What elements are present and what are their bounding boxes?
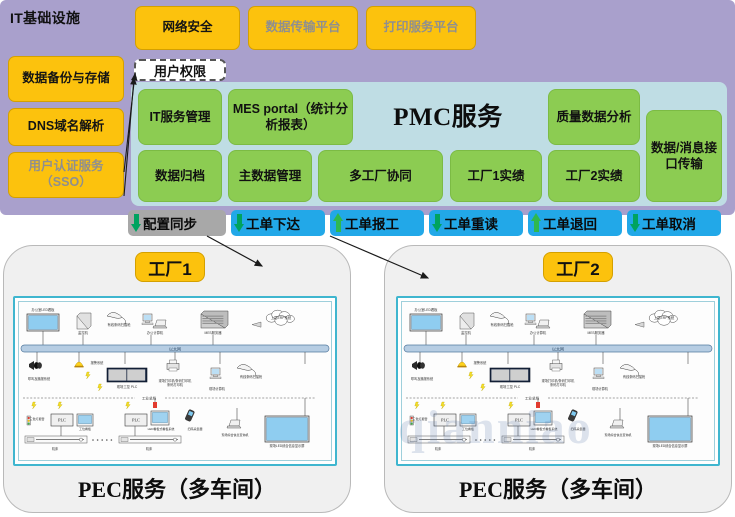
svg-text:扫码采集器: 扫码采集器 — [570, 426, 585, 431]
svg-text:办公室LED看板: 办公室LED看板 — [415, 307, 439, 312]
infra-item-sso[interactable]: 用户认证服务（SSO） — [8, 152, 124, 198]
svg-text:以太网: 以太网 — [169, 345, 181, 351]
factory-1-shopfloor-diagram: 办公室LED看板监控机有线条码扫描枪办公计算机MES服务器上层ERP系统以太网呼… — [13, 296, 337, 466]
pmc-service-data-archive[interactable]: 数据归档 — [138, 150, 222, 202]
svg-text:现场综合信息查询机: 现场综合信息查询机 — [604, 432, 631, 437]
svg-text:机床: 机床 — [52, 446, 59, 451]
svg-text:呼叫及播报系统: 呼叫及播报系统 — [28, 376, 51, 381]
flow-chip-order-reread[interactable]: 工单重读 — [429, 210, 523, 236]
svg-text:工位看板: 工位看板 — [462, 426, 474, 431]
svg-text:条码打印机: 条码打印机 — [167, 382, 184, 387]
svg-text:工位看板: 工位看板 — [79, 426, 91, 431]
svg-text:有线条码扫描枪: 有线条码扫描枪 — [107, 322, 131, 327]
svg-text:有线条码扫描枪: 有线条码扫描枪 — [623, 374, 646, 379]
infra-item-data-transfer-platform[interactable]: 数据传输平台 — [248, 6, 358, 50]
svg-text:现场综合信息查询机: 现场综合信息查询机 — [221, 432, 248, 437]
flow-chip-label: 工单取消 — [642, 213, 696, 233]
flow-chip-label: 工单重读 — [444, 213, 498, 233]
svg-text:PLC: PLC — [441, 418, 449, 423]
svg-text:报警系统: 报警系统 — [91, 360, 105, 365]
svg-text:现场工控 PLC: 现场工控 PLC — [117, 384, 138, 389]
factory-2-shopfloor-diagram: 办公室LED看板监控机有线条码扫描枪办公计算机MES服务器上层ERP系统以太网呼… — [396, 296, 720, 466]
svg-text:LED看板式看板系统: LED看板式看板系统 — [148, 426, 175, 431]
arrow-down-icon — [131, 213, 142, 233]
svg-text:PLC: PLC — [58, 418, 66, 423]
pmc-service-factory2-performance[interactable]: 工厂2实绩 — [548, 150, 640, 202]
svg-text:三色灯报警: 三色灯报警 — [29, 416, 44, 421]
arrow-down-icon — [234, 213, 245, 233]
svg-text:现场计算机: 现场计算机 — [592, 386, 609, 391]
flow-chip-order-cancel[interactable]: 工单取消 — [627, 210, 721, 236]
svg-text:三色灯报警: 三色灯报警 — [412, 416, 427, 421]
arrow-down-icon — [432, 213, 443, 233]
arrow-up-icon — [333, 213, 344, 233]
svg-text:LED看板式看板系统: LED看板式看板系统 — [531, 426, 558, 431]
svg-text:监控机: 监控机 — [78, 330, 89, 335]
svg-text:以太网: 以太网 — [552, 345, 564, 351]
svg-text:有线条码扫描枪: 有线条码扫描枪 — [490, 322, 514, 327]
arrow-up-icon — [531, 213, 542, 233]
flow-chip-label: 配置同步 — [143, 213, 197, 233]
pmc-service-master-data[interactable]: 主数据管理 — [228, 150, 312, 202]
pmc-service-factory1-performance[interactable]: 工厂1实绩 — [450, 150, 542, 202]
svg-text:MES服务器: MES服务器 — [587, 330, 605, 335]
svg-text:有线条码扫描枪: 有线条码扫描枪 — [240, 374, 263, 379]
svg-text:办公室LED看板: 办公室LED看板 — [32, 307, 56, 312]
svg-text:扫码采集器: 扫码采集器 — [187, 426, 202, 431]
factory-1-badge[interactable]: 工厂1 — [135, 252, 205, 282]
svg-text:条码打印机: 条码打印机 — [550, 382, 567, 387]
flow-chip-config-sync[interactable]: 配置同步 — [128, 210, 226, 236]
user-permission-top[interactable]: 用户权限 — [134, 59, 226, 81]
svg-text:办公计算机: 办公计算机 — [530, 330, 547, 335]
pmc-service-it-management[interactable]: IT服务管理 — [138, 89, 222, 145]
shopfloor-network-graphic: 办公室LED看板监控机有线条码扫描枪办公计算机MES服务器上层ERP系统以太网呼… — [398, 298, 718, 464]
svg-text:报警系统: 报警系统 — [474, 360, 488, 365]
pmc-title: PMC服务 — [363, 95, 533, 135]
infra-item-network-security[interactable]: 网络安全 — [135, 6, 240, 50]
shopfloor-network-graphic: 办公室LED看板监控机有线条码扫描枪办公计算机MES服务器上层ERP系统以太网呼… — [15, 298, 335, 464]
svg-text:机床: 机床 — [435, 446, 442, 451]
flow-chip-label: 工单报工 — [345, 213, 399, 233]
svg-text:工业总线: 工业总线 — [525, 396, 540, 401]
pmc-service-quality-analysis[interactable]: 质量数据分析 — [548, 89, 640, 145]
svg-text:机床: 机床 — [529, 446, 536, 451]
architecture-diagram: IT基础设施 数据备份与存储 DNS域名解析 用户认证服务（SSO） 网络安全 … — [0, 0, 735, 517]
svg-text:上层ERP系统: 上层ERP系统 — [271, 315, 292, 320]
svg-text:上层ERP系统: 上层ERP系统 — [654, 315, 675, 320]
infra-item-data-backup[interactable]: 数据备份与存储 — [8, 56, 124, 102]
svg-text:现场工控 PLC: 现场工控 PLC — [500, 384, 521, 389]
pmc-service-mes-portal[interactable]: MES portal（统计分析报表） — [228, 89, 353, 145]
svg-text:办公计算机: 办公计算机 — [147, 330, 164, 335]
infra-item-dns[interactable]: DNS域名解析 — [8, 108, 124, 146]
pmc-service-data-message-interface[interactable]: 数据/消息接口传输 — [646, 110, 722, 202]
svg-text:呼叫及播报系统: 呼叫及播报系统 — [411, 376, 434, 381]
factory-1-pec-label: PEC服务（多车间） — [3, 470, 351, 506]
svg-text:MES服务器: MES服务器 — [204, 330, 222, 335]
flow-chip-label: 工单退回 — [543, 213, 597, 233]
svg-text:工业总线: 工业总线 — [142, 396, 157, 401]
infra-item-print-service-platform[interactable]: 打印服务平台 — [366, 6, 476, 50]
pmc-service-multi-factory[interactable]: 多工厂协同 — [318, 150, 443, 202]
it-infrastructure-title: IT基础设施 — [10, 8, 80, 28]
flow-chip-order-dispatch[interactable]: 工单下达 — [231, 210, 325, 236]
svg-text:监控机: 监控机 — [461, 330, 472, 335]
flow-chip-label: 工单下达 — [246, 213, 300, 233]
svg-text:现场LED综合信息显示屏: 现场LED综合信息显示屏 — [270, 443, 306, 448]
svg-text:PLC: PLC — [515, 418, 523, 423]
flow-chip-order-report[interactable]: 工单报工 — [330, 210, 424, 236]
svg-text:PLC: PLC — [132, 418, 140, 423]
factory-2-pec-label: PEC服务（多车间） — [384, 470, 732, 506]
flow-chip-order-return[interactable]: 工单退回 — [528, 210, 622, 236]
svg-text:现场计算机: 现场计算机 — [209, 386, 226, 391]
arrow-down-icon — [630, 213, 641, 233]
svg-text:现场LED综合信息显示屏: 现场LED综合信息显示屏 — [653, 443, 689, 448]
svg-text:机床: 机床 — [146, 446, 153, 451]
factory-2-badge[interactable]: 工厂2 — [543, 252, 613, 282]
